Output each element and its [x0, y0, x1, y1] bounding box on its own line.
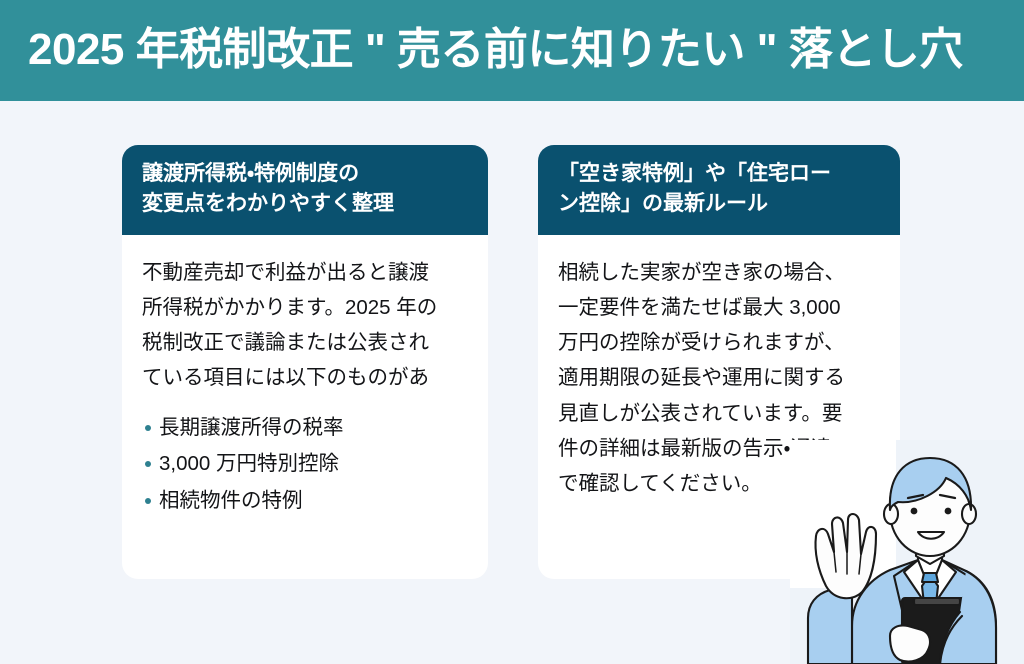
paragraph-line: 不動産売却で利益が出ると譲渡 — [142, 255, 468, 290]
card-header-line: ン控除」の最新ルール — [558, 189, 880, 219]
card-header-line: 譲渡所得税・特例制度の — [142, 159, 468, 189]
paragraph-line: 適用期限の延長や運用に関する — [558, 360, 880, 395]
bullet-list: 長期譲渡所得の税率 3,000 万円特別控除 相続物件の特例 — [142, 410, 468, 519]
paragraph-line: 万円の控除が受けられますが、 — [558, 325, 880, 360]
card-header-line: 「空き家特例」や「住宅ロー — [558, 159, 880, 189]
list-item: 3,000 万円特別控除 — [142, 446, 468, 482]
paragraph-line: 所得税がかかります。2025 年の — [142, 290, 468, 325]
slide-canvas: 2025 年税制改正 " 売る前に知りたい " 落とし穴 譲渡所得税・特例制度の… — [0, 0, 1024, 664]
paragraph-line: 見直しが公表されています。要 — [558, 396, 880, 431]
paragraph-line: で確認してください。 — [558, 466, 880, 501]
card-paragraph: 不動産売却で利益が出ると譲渡 所得税がかかります。2025 年の 税制改正で議論… — [142, 255, 468, 396]
card-body: 不動産売却で利益が出ると譲渡 所得税がかかります。2025 年の 税制改正で議論… — [122, 235, 488, 519]
card-header: 「空き家特例」や「住宅ロー ン控除」の最新ルール — [538, 145, 900, 235]
card-body: 相続した実家が空き家の場合、 一定要件を満たせば最大 3,000 万円の控除が受… — [538, 235, 900, 502]
paragraph-line: 相続した実家が空き家の場合、 — [558, 255, 880, 290]
card-header: 譲渡所得税・特例制度の 変更点をわかりやすく整理 — [122, 145, 488, 235]
page-title: 2025 年税制改正 " 売る前に知りたい " 落とし穴 — [28, 27, 963, 73]
card-vacant-house-rules: 「空き家特例」や「住宅ロー ン控除」の最新ルール 相続した実家が空き家の場合、 … — [538, 145, 900, 579]
paragraph-line: ている項目には以下のものがあ — [142, 360, 468, 395]
paragraph-line: 税制改正で議論または公表され — [142, 325, 468, 360]
paragraph-line: 件の詳細は最新版の告示・通達 — [558, 431, 880, 466]
header-banner: 2025 年税制改正 " 売る前に知りたい " 落とし穴 — [0, 0, 1024, 101]
card-header-line: 変更点をわかりやすく整理 — [142, 189, 468, 219]
card-capital-gains-tax: 譲渡所得税・特例制度の 変更点をわかりやすく整理 不動産売却で利益が出ると譲渡 … — [122, 145, 488, 579]
list-item: 長期譲渡所得の税率 — [142, 410, 468, 446]
paragraph-line: 一定要件を満たせば最大 3,000 — [558, 290, 880, 325]
list-item: 相続物件の特例 — [142, 483, 468, 519]
card-paragraph: 相続した実家が空き家の場合、 一定要件を満たせば最大 3,000 万円の控除が受… — [558, 255, 880, 502]
